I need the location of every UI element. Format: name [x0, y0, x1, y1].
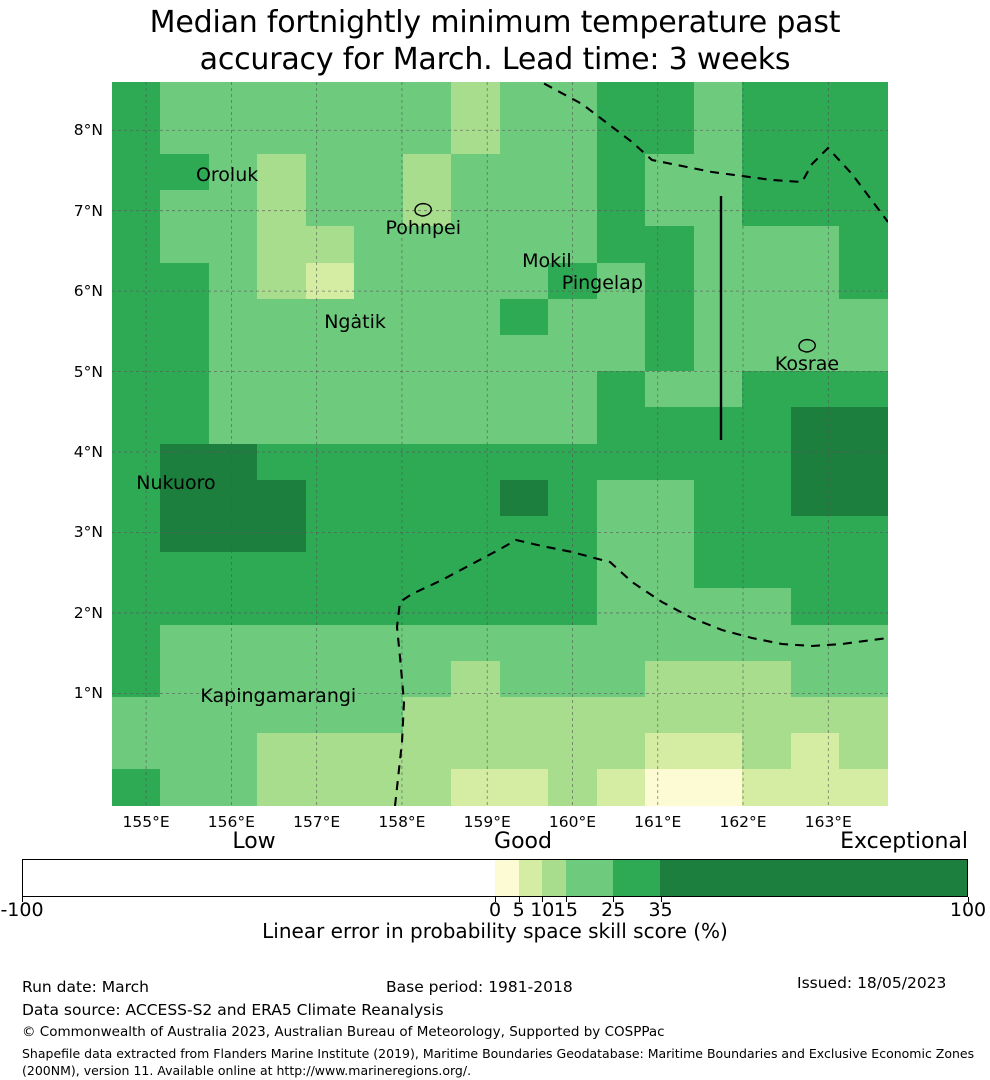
page-title: Median fortnightly minimum temperature p… [0, 4, 990, 78]
colorbar-segment [495, 860, 519, 896]
footer-copyright: © Commonwealth of Australia 2023, Austra… [22, 1024, 665, 1040]
colorbar-segment [23, 860, 495, 896]
colorbar-segment [660, 860, 967, 896]
footer-data-source: Data source: ACCESS-S2 and ERA5 Climate … [22, 1001, 444, 1019]
colorbar-tick-label: 0 [489, 899, 501, 921]
footer-shapefile-line-2: (200NM), version 11. Available online at… [22, 1063, 471, 1078]
y-axis-tick-label: 1°N [74, 684, 103, 702]
x-axis-tick-label: 157°E [293, 813, 340, 831]
map-place-label: Mokil [522, 250, 572, 272]
eez-boundary-south [395, 540, 888, 806]
x-axis-tick-label: 158°E [378, 813, 425, 831]
map-place-label: Ngȧtik [324, 311, 386, 333]
footer-run-date: Run date: March [22, 978, 149, 996]
eez-boundary-north [530, 82, 888, 222]
colorbar-quality-label: Exceptional [840, 829, 968, 854]
y-axis-tick-label: 8°N [74, 121, 103, 139]
colorbar-tick-mark [519, 897, 520, 902]
colorbar-axis-label: Linear error in probability space skill … [0, 919, 990, 943]
colorbar-tick-label: 15 [554, 899, 578, 921]
colorbar-panel: -1000510152535100LowGoodExceptional [22, 859, 968, 897]
colorbar-tick-label: -100 [0, 899, 43, 921]
map-place-label: Kapingamarangi [200, 685, 356, 707]
map-place-label: Nukuoro [136, 472, 215, 494]
colorbar-tick-mark [495, 897, 496, 902]
title-line-2: accuracy for March. Lead time: 3 weeks [0, 41, 990, 78]
title-line-1: Median fortnightly minimum temperature p… [0, 4, 990, 41]
x-axis-tick-label: 160°E [549, 813, 596, 831]
colorbar-tick-mark [613, 897, 614, 902]
footer-base-period: Base period: 1981-2018 [386, 978, 573, 996]
colorbar-tick-mark [22, 897, 23, 902]
island-outline-icon [797, 338, 817, 354]
colorbar-segment [566, 860, 613, 896]
footer-issued: Issued: 18/05/2023 [797, 974, 946, 992]
colorbar-tick-label: 25 [601, 899, 625, 921]
y-axis-tick-label: 4°N [74, 443, 103, 461]
colorbar-tick-mark [968, 897, 969, 902]
colorbar[interactable] [22, 859, 968, 897]
map-panel: 1°N2°N3°N4°N5°N6°N7°N8°N155°E156°E157°E1… [112, 82, 888, 806]
y-axis-tick-label: 6°N [74, 282, 103, 300]
map-place-label: Oroluk [196, 164, 258, 186]
colorbar-quality-label: Good [494, 829, 552, 854]
colorbar-tick-label: 10 [530, 899, 554, 921]
colorbar-tick-label: 100 [950, 899, 986, 921]
y-axis-tick-label: 7°N [74, 202, 103, 220]
map-place-label: Pohnpei [385, 217, 461, 239]
y-axis-tick-label: 3°N [74, 523, 103, 541]
x-axis-tick-label: 161°E [634, 813, 681, 831]
x-axis-tick-label: 155°E [123, 813, 170, 831]
colorbar-tick-label: 35 [648, 899, 672, 921]
x-axis-tick-label: 162°E [719, 813, 766, 831]
y-axis-tick-label: 5°N [74, 363, 103, 381]
map-place-label: Pingelap [562, 272, 643, 294]
footer-shapefile-line-1: Shapefile data extracted from Flanders M… [22, 1046, 974, 1061]
colorbar-quality-label: Low [232, 829, 275, 854]
colorbar-tick-mark [542, 897, 543, 902]
colorbar-tick-label: 5 [513, 899, 525, 921]
y-axis-tick-label: 2°N [74, 604, 103, 622]
map-place-label: Kosrae [775, 353, 839, 375]
colorbar-tick-mark [566, 897, 567, 902]
colorbar-segment [519, 860, 543, 896]
colorbar-tick-mark [661, 897, 662, 902]
island-outline-icon [413, 202, 433, 218]
colorbar-segment [613, 860, 660, 896]
colorbar-segment [542, 860, 566, 896]
